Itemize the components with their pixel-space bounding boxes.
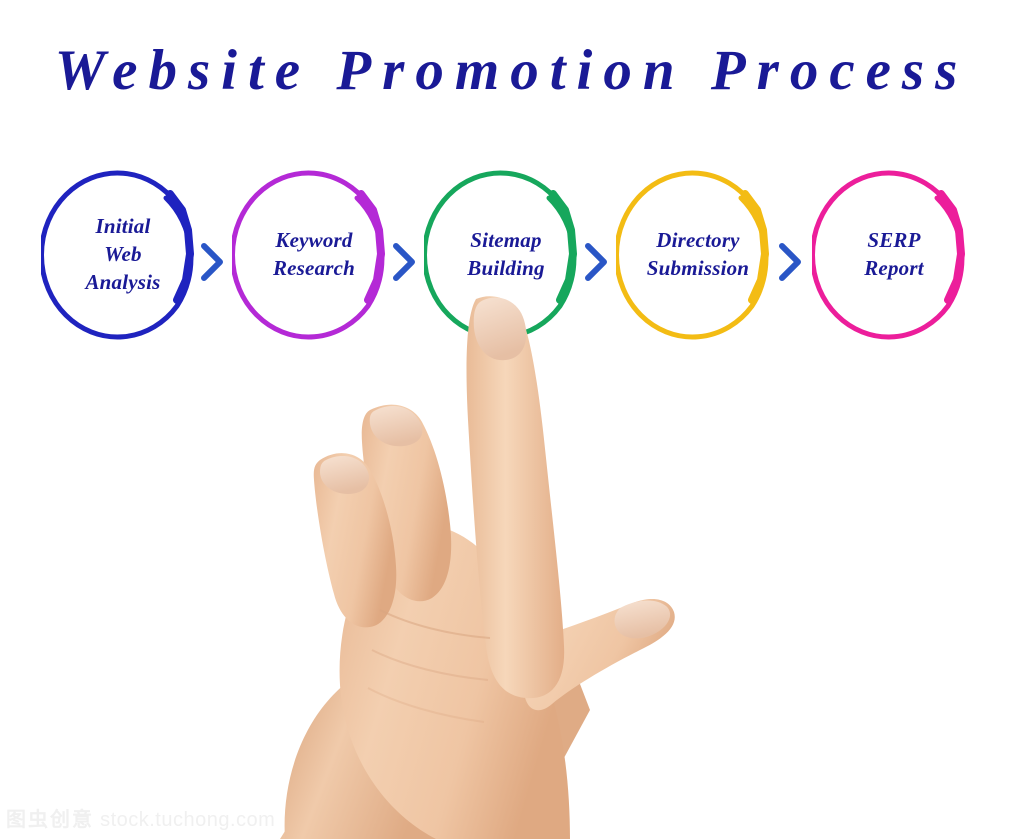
knuckle-crease-3 <box>368 688 484 722</box>
watermark-cn-text: 图虫创意 <box>6 809 94 831</box>
connector-chevron-right-icon-1 <box>199 242 225 282</box>
ring-finger-folded <box>314 453 397 627</box>
connector-chevron-right-icon-4 <box>777 242 803 282</box>
process-flow: Initial Web Analysis Keyword Research <box>0 170 1023 350</box>
watermark: 图虫创意 stock.tuchong.com <box>6 803 275 832</box>
process-step-sitemap-building[interactable]: Sitemap Building <box>424 170 588 340</box>
ring-finger-nail <box>320 456 369 494</box>
index-finger <box>467 296 565 698</box>
knuckle-crease-1 <box>380 610 490 638</box>
process-step-initial-web-analysis[interactable]: Initial Web Analysis <box>41 170 205 340</box>
middle-finger-folded <box>362 405 451 602</box>
process-step-serp-report[interactable]: SERP Report <box>812 170 976 340</box>
step-ring-1 <box>41 170 205 340</box>
step-ring-3 <box>424 170 588 340</box>
wrist <box>285 660 470 839</box>
thumb-nail <box>615 600 671 638</box>
step-ring-2 <box>232 170 396 340</box>
forearm <box>280 580 590 839</box>
step-ring-4 <box>616 170 780 340</box>
middle-finger-nail <box>370 406 423 446</box>
process-step-directory-submission[interactable]: Directory Submission <box>616 170 780 340</box>
knuckle-crease-2 <box>372 650 488 680</box>
diagram-canvas: Website Promotion Process Initial Web An… <box>0 0 1023 839</box>
pointing-hand-photo <box>240 280 880 839</box>
palm <box>340 525 570 839</box>
step-ring-5 <box>812 170 976 340</box>
connector-chevron-right-icon-3 <box>583 242 609 282</box>
process-step-keyword-research[interactable]: Keyword Research <box>232 170 396 340</box>
thumb <box>523 599 674 710</box>
page-title: Website Promotion Process <box>0 42 1023 99</box>
connector-chevron-right-icon-2 <box>391 242 417 282</box>
watermark-en-text: stock.tuchong.com <box>100 809 275 831</box>
